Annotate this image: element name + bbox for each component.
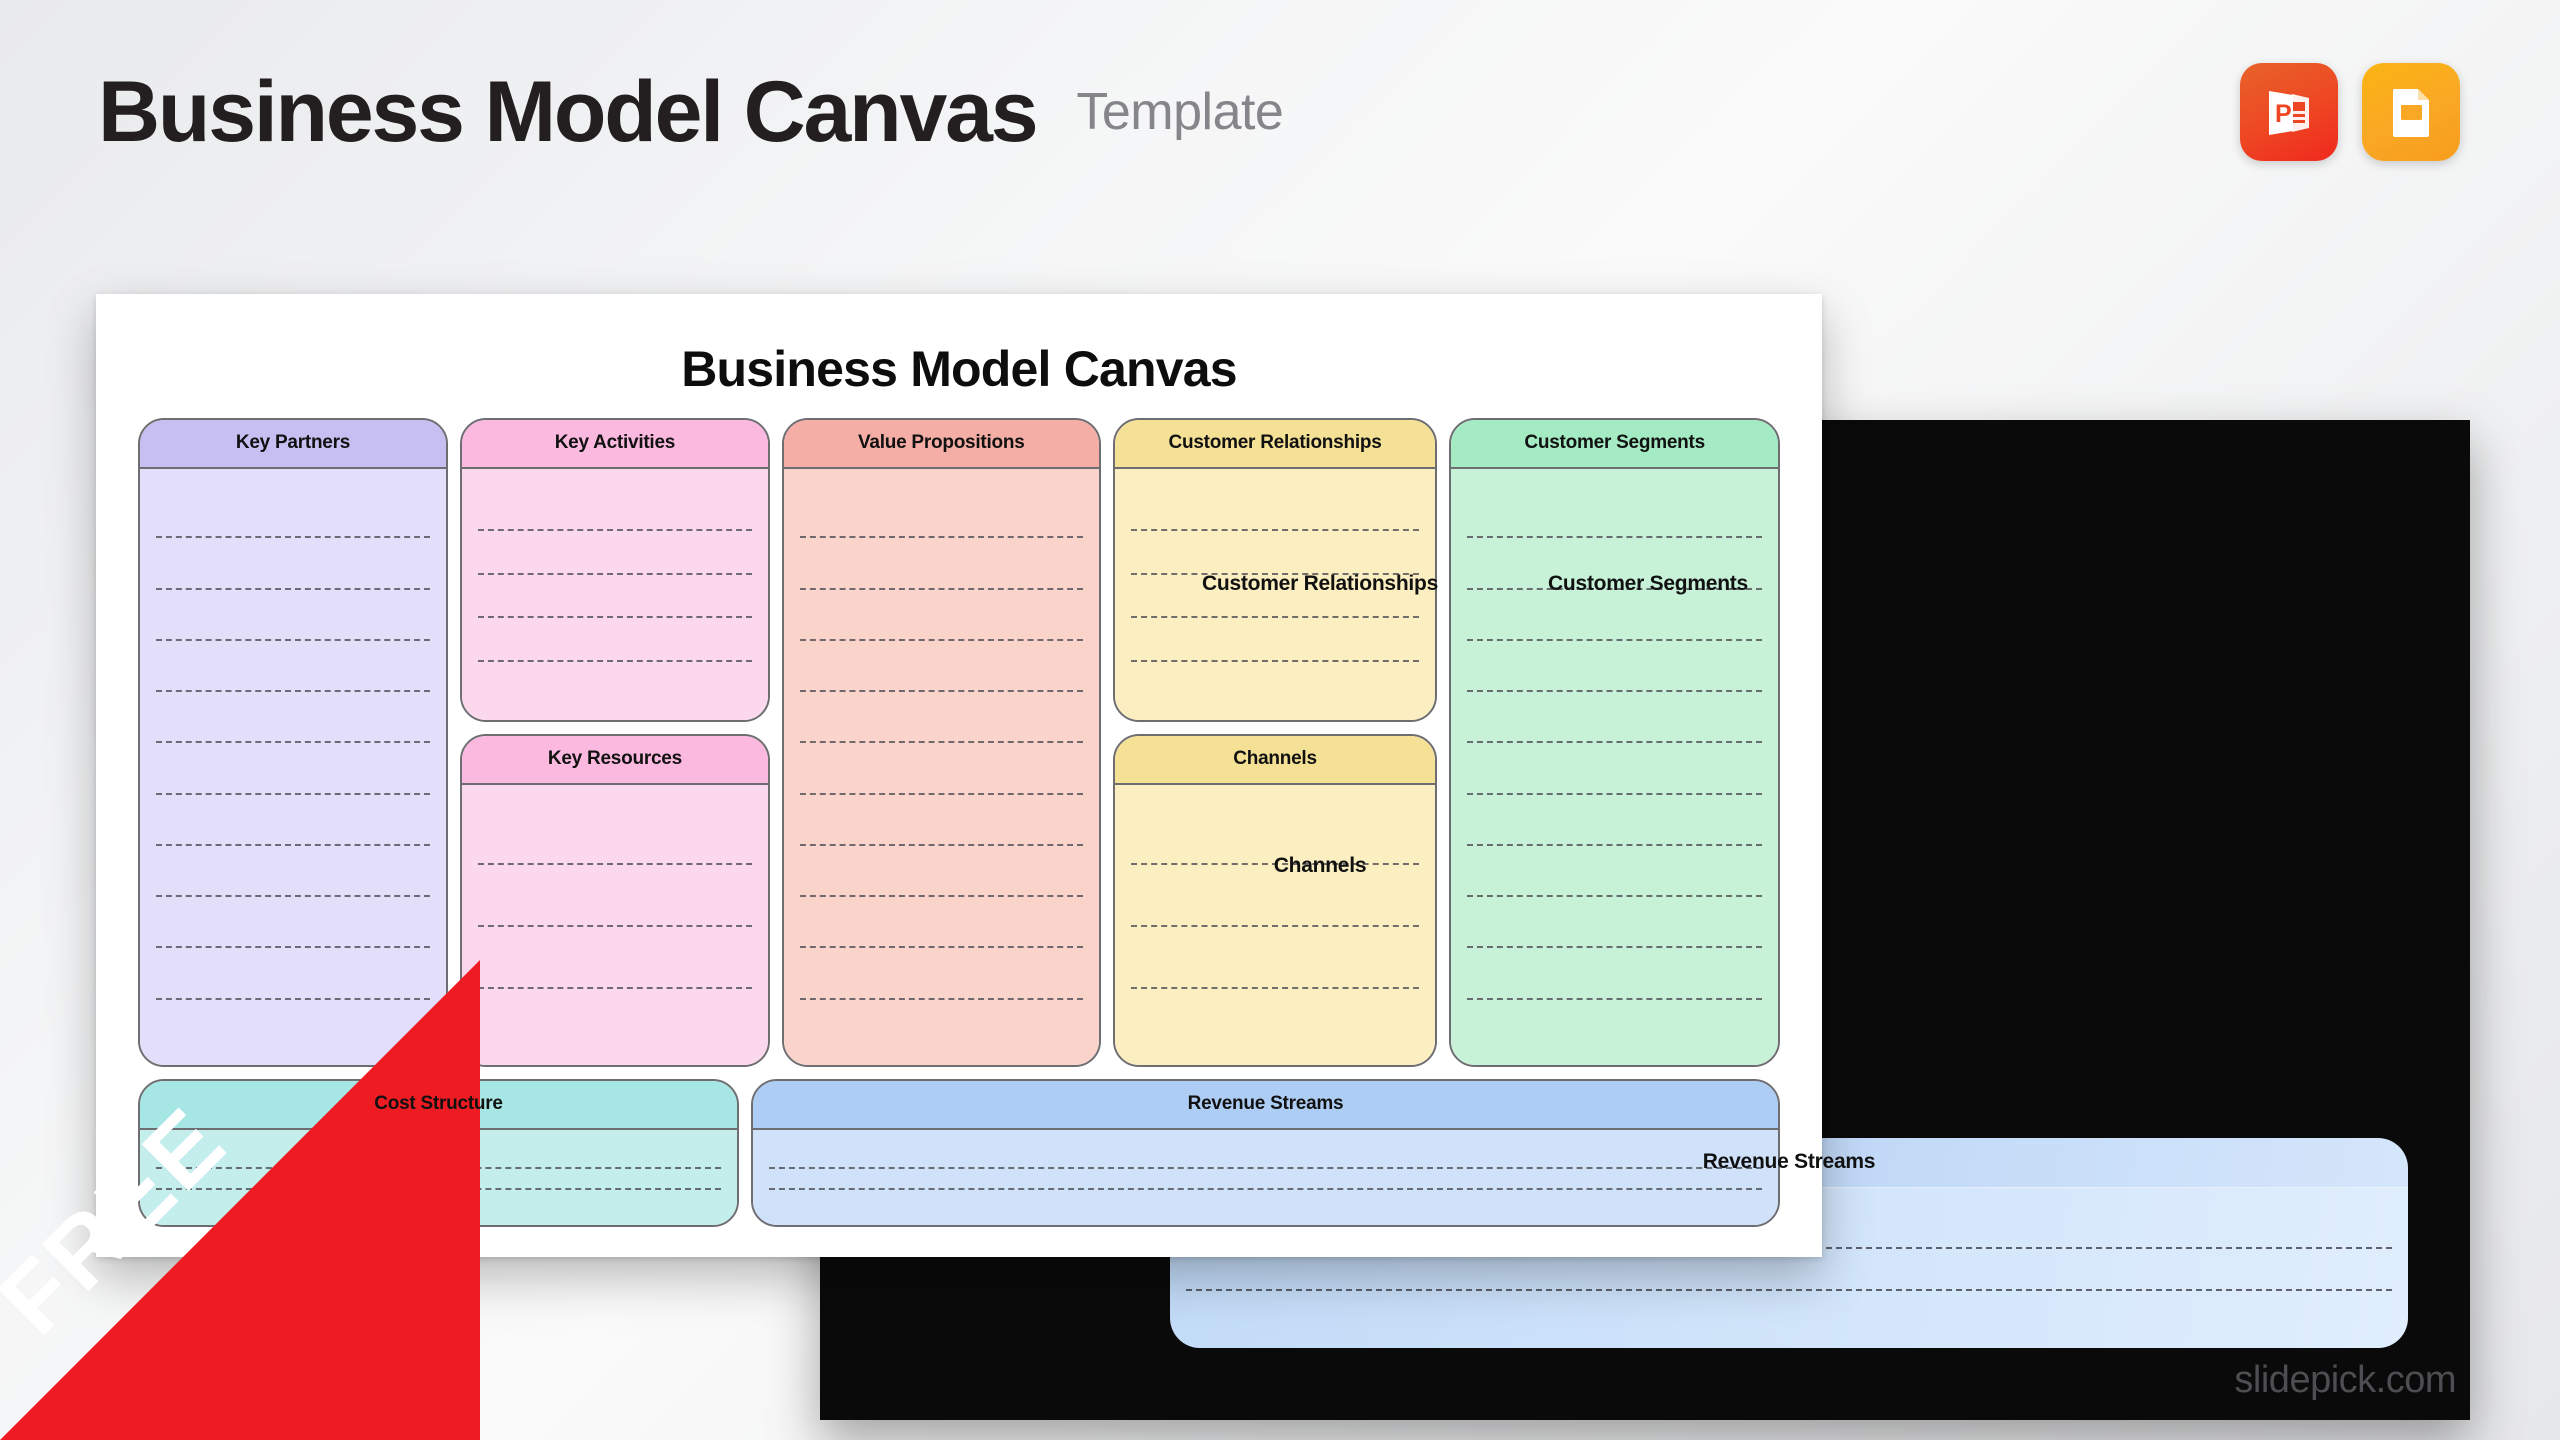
format-icons: P [2240,63,2460,161]
dashed-rule [156,793,430,795]
canvas-card-key-resources[interactable]: Key Resources [460,734,770,1067]
card-body-revenue-streams [753,1130,1778,1225]
card-header-revenue-streams: Revenue Streams [753,1081,1778,1130]
card-label-key-resources: Key Resources [548,748,682,769]
page-header: Business Model Canvas Template P [98,52,2460,172]
card-label-key-partners: Key Partners [236,432,350,453]
dashed-rule [156,639,430,641]
card-label-customer-segments: Customer Segments [1524,432,1705,453]
dashed-rule [800,895,1083,897]
dashed-rule [1131,529,1420,531]
dashed-rule [1467,946,1762,948]
canvas-column-key-partners: Key Partners [138,418,448,1067]
dashed-rule [478,616,752,618]
canvas-grid: Key Partners K [138,418,1780,1067]
dark-label-channels: Channels [1274,854,1367,877]
card-header-cost-structure: Cost Structure [140,1081,737,1130]
canvas-bottom-row: Cost Structure Revenue Streams [138,1079,1780,1227]
dashed-rule [800,639,1083,641]
dark-label-revenue-streams: Revenue Streams [1703,1150,1876,1173]
dashed-rule [478,863,752,865]
dashed-rule [769,1167,1762,1169]
canvas-card-channels[interactable]: Channels [1113,734,1438,1067]
canvas-column-value-propositions: Value Propositions [782,418,1101,1067]
canvas-card-revenue-streams[interactable]: Revenue Streams [751,1079,1780,1227]
card-header-customer-relationships: Customer Relationships [1115,420,1436,469]
dashed-rule [1131,987,1420,989]
canvas-title: Business Model Canvas [138,344,1780,394]
dashed-rule [1467,895,1762,897]
dashed-rule [800,588,1083,590]
dashed-rule [156,536,430,538]
page-subtitle: Template [1076,82,1283,142]
canvas-card-key-activities[interactable]: Key Activities [460,418,770,722]
dashed-rule [1467,998,1762,1000]
card-label-revenue-streams: Revenue Streams [1188,1093,1344,1114]
dashed-rule [156,690,430,692]
dashed-rule [156,1188,721,1190]
canvas-card-customer-relationships[interactable]: Customer Relationships [1113,418,1438,722]
card-header-value-propositions: Value Propositions [784,420,1099,469]
light-slide-preview: Business Model Canvas Key Partners [96,294,1822,1257]
dashed-rule [478,925,752,927]
card-body-channels [1115,785,1436,1065]
dashed-rule [1131,925,1420,927]
card-header-key-resources: Key Resources [462,736,768,785]
card-body-key-resources [462,785,768,1065]
dashed-rule [478,573,752,575]
dashed-rule [156,895,430,897]
canvas-card-customer-segments[interactable]: Customer Segments [1449,418,1780,1067]
svg-text:P: P [2275,100,2292,128]
card-header-key-activities: Key Activities [462,420,768,469]
dashed-rule [800,536,1083,538]
dashed-rule [156,1167,721,1169]
dashed-rule [1467,690,1762,692]
dashed-rule [156,946,430,948]
card-header-key-partners: Key Partners [140,420,446,469]
card-body-key-partners [140,469,446,1065]
powerpoint-icon[interactable]: P [2240,63,2338,161]
dashed-rule [478,529,752,531]
dashed-rule [1131,616,1420,618]
canvas-column-customer-segments: Customer Segments [1449,418,1780,1067]
canvas-card-key-partners[interactable]: Key Partners [138,418,448,1067]
card-header-channels: Channels [1115,736,1436,785]
card-header-customer-segments: Customer Segments [1451,420,1778,469]
canvas-card-value-propositions[interactable]: Value Propositions [782,418,1101,1067]
dashed-rule [1467,639,1762,641]
dashed-rule [1467,741,1762,743]
dashed-rule [156,741,430,743]
dashed-rule [1131,660,1420,662]
dashed-rule [478,987,752,989]
dashed-rule [800,998,1083,1000]
dashed-rule [800,793,1083,795]
card-label-key-activities: Key Activities [555,432,675,453]
dark-label-customer-relationships: Customer Relationships [1202,572,1438,595]
dashed-rule [156,588,430,590]
card-label-value-propositions: Value Propositions [858,432,1025,453]
dashed-rule [156,998,430,1000]
dashed-rule [1186,1289,2392,1291]
dashed-rule [800,690,1083,692]
dashed-rule [769,1188,1762,1190]
canvas-column-key-activities: Key Activities Key Resources [460,418,770,1067]
dashed-rule [800,741,1083,743]
dashed-rule [1467,844,1762,846]
dashed-rule [800,844,1083,846]
dark-label-customer-segments: Customer Segments [1548,572,1748,595]
dashed-rule [800,946,1083,948]
card-body-customer-segments [1451,469,1778,1065]
canvas-card-cost-structure[interactable]: Cost Structure [138,1079,739,1227]
card-body-value-propositions [784,469,1099,1065]
site-watermark: slidepick.com [2234,1359,2456,1402]
card-label-customer-relationships: Customer Relationships [1169,432,1382,453]
dashed-rule [478,660,752,662]
page-title: Business Model Canvas [98,69,1036,155]
dashed-rule [156,844,430,846]
dashed-rule [1467,793,1762,795]
card-body-cost-structure [140,1130,737,1225]
card-label-channels: Channels [1233,748,1317,769]
card-label-cost-structure: Cost Structure [374,1093,502,1114]
dashed-rule [1467,536,1762,538]
card-body-key-activities [462,469,768,720]
canvas-column-customer-relationships: Customer Relationships Channels [1113,418,1438,1067]
google-slides-icon[interactable] [2362,63,2460,161]
